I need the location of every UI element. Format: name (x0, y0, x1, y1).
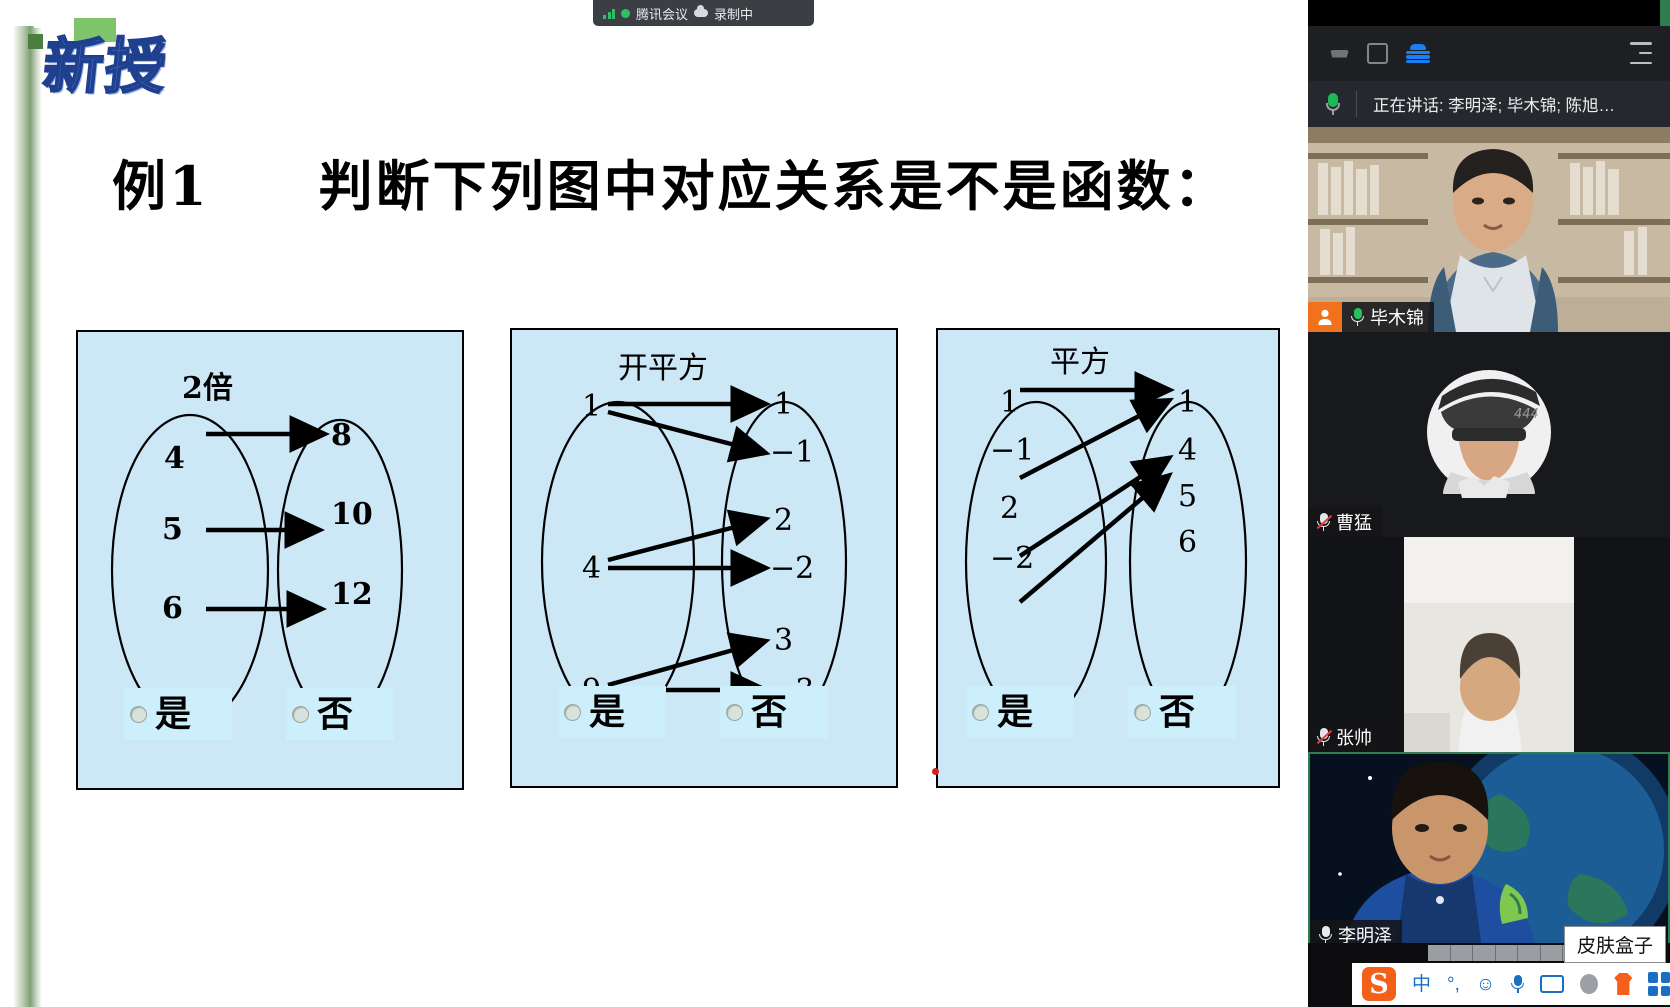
answer-label: 是 (997, 694, 1033, 730)
diagram-3-answer-no[interactable]: 否 (1128, 686, 1236, 738)
participant-name: 毕木锦 (1364, 304, 1424, 330)
ime-toolbar[interactable]: S 中 °, ☺ (1352, 963, 1670, 1005)
cloud-icon (694, 9, 708, 17)
slide-pointer-dot (932, 768, 939, 775)
ime-punctuation-button[interactable]: °, (1447, 975, 1460, 994)
diagram-1-left-1: 5 (162, 512, 183, 547)
diagram-panel-1: 2倍 4 5 6 8 10 12 是 否 (76, 330, 464, 790)
diagram-1-right-1: 10 (331, 497, 373, 532)
apps-grid-icon[interactable] (1648, 972, 1670, 996)
ime-mode-button[interactable]: 中 (1412, 975, 1431, 994)
radio-icon[interactable] (726, 704, 743, 721)
participants-sidebar: 正在讲话: 李明泽; 毕木锦; 陈旭… (1308, 26, 1670, 1007)
host-person-icon (1308, 302, 1342, 332)
video-tile-1-name-badge: 毕木锦 (1308, 302, 1434, 332)
answer-label: 是 (155, 696, 191, 732)
video-tile-3[interactable]: 张帅 (1308, 537, 1670, 752)
diagram-2-right-4: 3 (774, 623, 793, 658)
diagram-1-right-0: 8 (331, 418, 352, 453)
voice-input-icon[interactable] (1511, 975, 1524, 993)
emoji-icon[interactable]: ☺ (1476, 975, 1495, 994)
answer-label: 否 (1159, 694, 1195, 730)
answer-label: 否 (317, 696, 353, 732)
microphone-active-icon (1351, 308, 1364, 326)
microphone-active-icon (1326, 93, 1340, 115)
diagram-2-answer-no[interactable]: 否 (720, 686, 828, 738)
maximize-icon[interactable] (1367, 43, 1388, 64)
video-tile-2[interactable]: 444 曹猛 (1308, 332, 1670, 537)
radio-icon[interactable] (1134, 704, 1151, 721)
diagram-3-left-1: −1 (990, 433, 1034, 468)
speaking-indicator: 正在讲话: 李明泽; 毕木锦; 陈旭… (1308, 81, 1670, 127)
diagram-3-right-1: 4 (1178, 433, 1197, 468)
diagram-1-answer-row: 是 否 (78, 688, 462, 740)
diagram-3-answer-row: 是 否 (938, 686, 1278, 738)
diagram-2-answer-row: 是 否 (512, 686, 896, 738)
decoration-title-text: 新授 (39, 18, 172, 105)
diagram-3-relation-label: 平方 (1050, 345, 1110, 380)
diagram-3-answer-yes[interactable]: 是 (966, 686, 1074, 738)
participant-list-icon[interactable] (1406, 44, 1430, 64)
diagram-2-right-1: −1 (770, 435, 814, 470)
diagram-2-right-3: −2 (770, 551, 814, 586)
diagram-3-right-0: 1 (1178, 385, 1197, 420)
diagram-1-right-2: 12 (331, 577, 373, 612)
diagram-3-right-2: 5 (1178, 479, 1197, 514)
radio-icon[interactable] (564, 704, 581, 721)
collapse-panel-icon[interactable] (1630, 42, 1652, 64)
participant-name: 曹猛 (1330, 509, 1372, 535)
radio-icon[interactable] (292, 706, 309, 723)
diagram-1-left-2: 6 (162, 591, 183, 626)
radio-icon[interactable] (972, 704, 989, 721)
soft-keyboard-icon[interactable] (1540, 975, 1564, 993)
signal-bars-icon (603, 8, 615, 19)
video-tile-3-name-badge: 张帅 (1308, 722, 1382, 752)
diagram-3-left-0: 1 (1000, 385, 1019, 420)
participant-name: 张帅 (1330, 724, 1372, 750)
slide-decoration-title: 新授 (28, 16, 328, 98)
video-tile-3-image (1308, 537, 1670, 752)
diagram-2-left-0: 1 (582, 389, 601, 424)
answer-label: 是 (589, 694, 625, 730)
video-tile-1[interactable]: 毕木锦 (1308, 127, 1670, 332)
skin-shirt-icon[interactable] (1614, 973, 1632, 995)
video-tile-2-name-badge: 曹猛 (1308, 507, 1382, 537)
sogou-logo-icon[interactable]: S (1362, 967, 1396, 1001)
diagram-2-left-1: 4 (582, 551, 601, 586)
diagram-3-right-3: 6 (1178, 525, 1197, 560)
meeting-app-name: 腾讯会议 (636, 4, 688, 23)
diagram-3-left-3: −2 (990, 541, 1034, 576)
microphone-muted-icon (1317, 513, 1330, 531)
diagram-1-answer-no[interactable]: 否 (286, 688, 394, 740)
ime-taskbar: S 中 °, ☺ 皮肤盒子 (1308, 943, 1670, 1007)
top-right-black-bar (1308, 0, 1670, 26)
user-icon[interactable] (1580, 974, 1598, 994)
diagram-2-relation-label: 开平方 (618, 351, 708, 386)
diagram-1-answer-yes[interactable]: 是 (124, 688, 232, 740)
diagram-panel-2: 开平方 1 4 9 1 −1 2 −2 3 −3 是 否 (510, 328, 898, 788)
diagram-1-relation-label: 2倍 (182, 371, 233, 406)
diagram-2-right-0: 1 (774, 387, 793, 422)
ime-tooltip: 皮肤盒子 (1564, 926, 1666, 963)
speaking-text: 正在讲话: 李明泽; 毕木锦; 陈旭… (1373, 92, 1615, 116)
diagram-2-answer-yes[interactable]: 是 (558, 686, 666, 738)
answer-label: 否 (751, 694, 787, 730)
meeting-status-bar[interactable]: 腾讯会议 录制中 (593, 0, 814, 26)
divider (1356, 91, 1357, 117)
video-tile-4[interactable]: 李明泽 (1308, 752, 1670, 952)
decoration-square-dark (28, 34, 43, 49)
slide-left-white-margin (0, 0, 14, 1007)
microphone-muted-icon (1317, 728, 1330, 746)
page-title: 例1 判断下列图中对应关系是不是函数： (112, 142, 1231, 221)
recording-dot-icon (621, 9, 630, 18)
radio-icon[interactable] (130, 706, 147, 723)
microphone-active-icon (1319, 926, 1332, 944)
diagram-3-left-2: 2 (1000, 491, 1019, 526)
top-right-green-accent (1660, 0, 1670, 26)
sidebar-titlebar (1308, 26, 1670, 81)
diagram-1-left-0: 4 (164, 441, 185, 476)
minimize-icon[interactable] (1330, 50, 1349, 58)
svg-text:444: 444 (1514, 407, 1539, 422)
diagram-2-right-2: 2 (774, 503, 793, 538)
recording-status-label: 录制中 (714, 4, 753, 23)
diagram-panel-3: 平方 1 −1 2 −2 1 4 5 6 是 否 (936, 328, 1280, 788)
